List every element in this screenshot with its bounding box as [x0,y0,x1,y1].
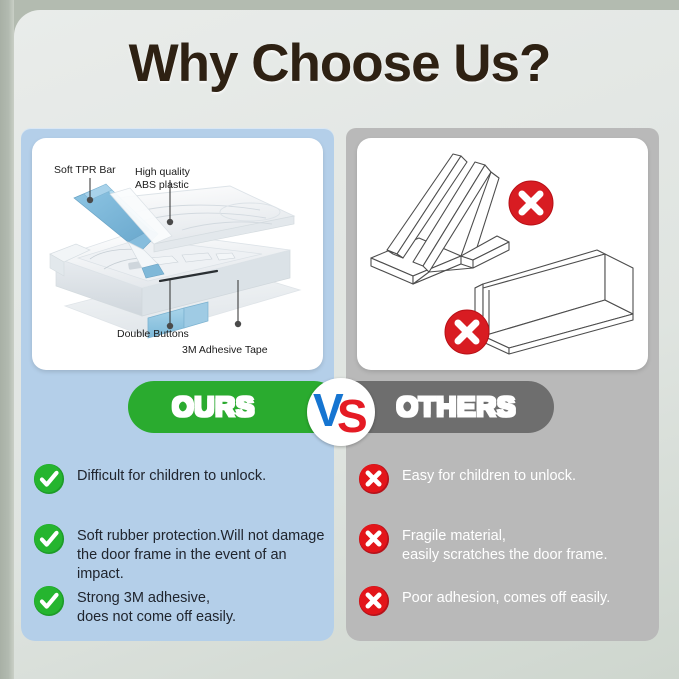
list-item: Poor adhesion, comes off easily. [358,585,610,617]
check-circle-icon [33,585,65,617]
vs-badge: V S [307,378,375,446]
competitor-diagram-svg [357,138,648,370]
check-circle-icon [33,463,65,495]
list-item: Difficult for children to unlock. [33,463,266,495]
x-circle-icon [358,523,390,555]
list-item: Soft rubber protection.Will not damage t… [33,523,333,584]
check-circle-icon [33,523,65,555]
diagram-label-soft-tpr-bar: Soft TPR Bar [54,164,116,177]
ours-label: OURS [172,391,255,423]
list-item-label: Easy for children to unlock. [402,463,576,486]
list-item-label: Soft rubber protection.Will not damage t… [77,523,333,584]
promo-infographic: Why Choose Us? [0,0,679,679]
vs-banner: OURS OTHERS V S [0,378,679,440]
x-circle-icon [444,309,490,355]
list-item-label: Strong 3M adhesive, does not come off ea… [77,585,236,627]
x-circle-icon [358,463,390,495]
list-item: Strong 3M adhesive, does not come off ea… [33,585,236,627]
list-item: Fragile material, easily scratches the d… [358,523,608,565]
x-circle-icon [508,180,554,226]
x-circle-icon [358,585,390,617]
left-edge-strip [0,0,14,679]
others-label: OTHERS [396,391,516,423]
list-item-label: Poor adhesion, comes off easily. [402,585,610,608]
ours-product-image-card: Soft TPR Bar High quality ABS plastic Do… [32,138,323,370]
page-title: Why Choose Us? [0,33,679,94]
list-item: Easy for children to unlock. [358,463,576,495]
list-item-label: Fragile material, easily scratches the d… [402,523,608,565]
diagram-label-abs-plastic: High quality ABS plastic [135,166,190,191]
diagram-label-3m-adhesive-tape: 3M Adhesive Tape [182,344,268,357]
diagram-label-double-buttons: Double Buttons [117,328,189,341]
list-item-label: Difficult for children to unlock. [77,463,266,486]
others-product-image-card [357,138,648,370]
vs-letter-s: S [337,393,368,439]
